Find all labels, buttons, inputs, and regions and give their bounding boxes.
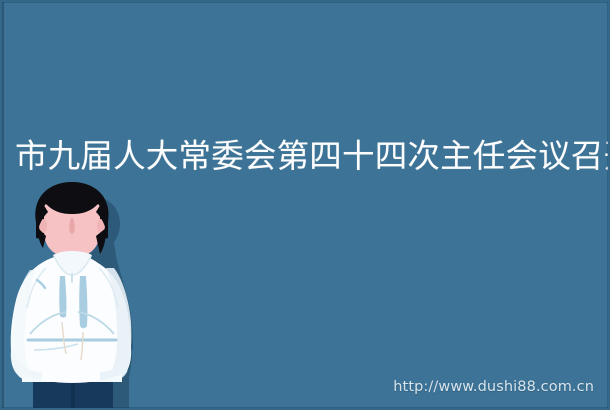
person-illustration: [2, 182, 152, 410]
headline-text: 市九届人大常委会第四十四次主任会议召开: [15, 136, 610, 176]
hoodie: [11, 251, 132, 383]
drawstring-right: [79, 276, 87, 328]
person-illustration-svg: [2, 182, 152, 410]
watermark-url: http://www.dushi88.com.cn: [393, 379, 594, 395]
news-image-canvas: 市九届人大常委会第四十四次主任会议召开 http://www.dushi88.c…: [0, 0, 610, 410]
